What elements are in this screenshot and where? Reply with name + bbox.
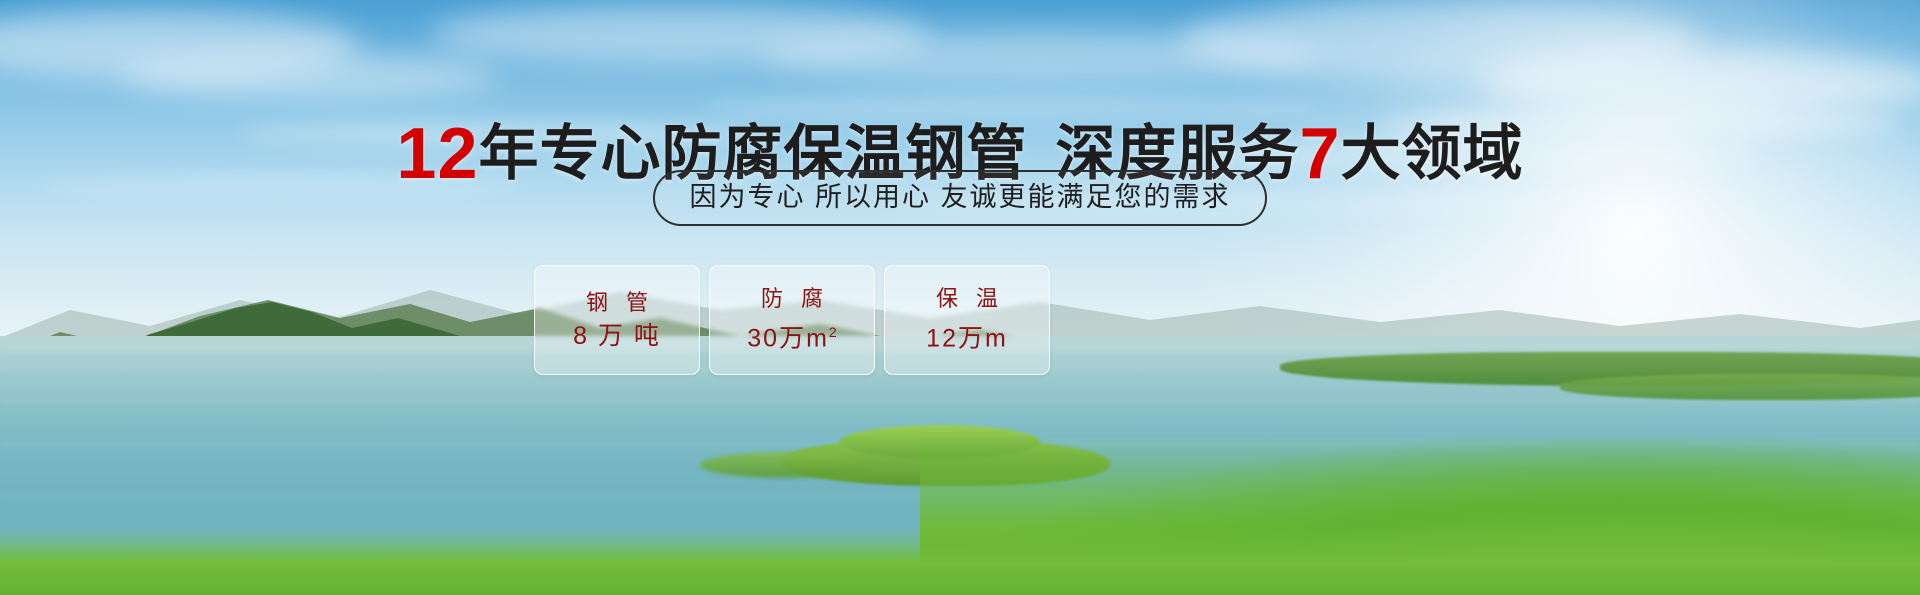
stat-value-superscript: 2 (829, 324, 837, 340)
stat-value-text: 30万m (747, 325, 829, 353)
subtitle-container: 因为专心 所以用心 友诚更能满足您的需求 (0, 170, 1920, 226)
stat-card-value: 30万m2 (747, 319, 836, 352)
stat-card-title: 防 腐 (755, 287, 829, 311)
stat-card-title: 保 温 (930, 287, 1004, 311)
stat-card-value: 8 万 吨 (573, 323, 661, 350)
stat-card-anticorrosion[interactable]: 防 腐 30万m2 (709, 265, 875, 375)
subtitle-pill: 因为专心 所以用心 友诚更能满足您的需求 (653, 170, 1266, 226)
stat-card-insulation[interactable]: 保 温 12万m (884, 265, 1050, 375)
stat-value-text: 12万m (926, 325, 1008, 353)
stat-value-text: 8 万 吨 (573, 322, 661, 350)
grass-foreground-bottom (0, 525, 1920, 595)
stat-card-steel-pipe[interactable]: 钢 管 8 万 吨 (534, 265, 700, 375)
stats-card-group: 钢 管 8 万 吨 防 腐 30万m2 保 温 12万m (534, 265, 1050, 375)
hero-banner: 12年专心防腐保温钢管深度服务7大领域 因为专心 所以用心 友诚更能满足您的需求… (0, 0, 1920, 595)
stat-card-value: 12万m (926, 319, 1008, 352)
stat-card-title: 钢 管 (580, 291, 654, 315)
